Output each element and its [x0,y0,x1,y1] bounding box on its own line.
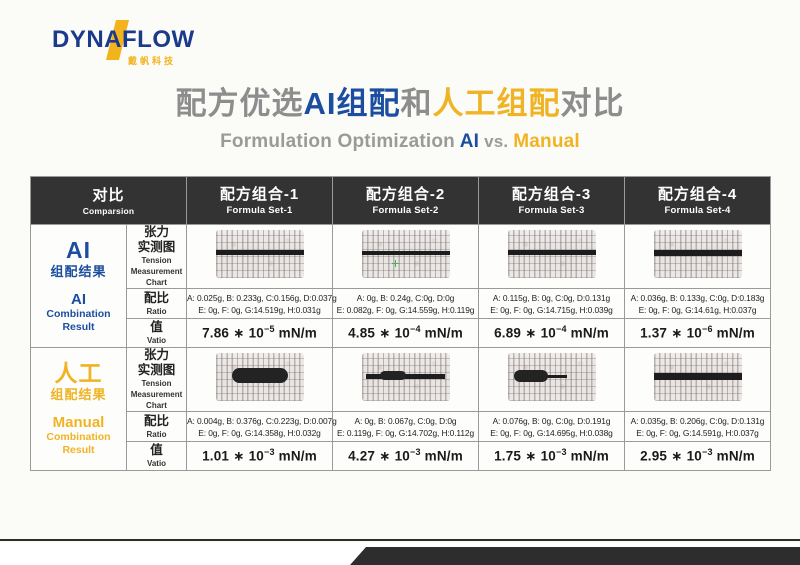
brand-logo: DYNAFLOW 戴帆科技 [52,27,202,65]
ratio-line-2: E: 0g, F: 0g, G:14.519g, H:0.031g [187,304,332,316]
row-label-ai: AI 组配结果 AI Combination Result [31,225,127,348]
page-title-cn: 配方优选AI组配和人工组配对比 [0,84,800,124]
value-mantissa: 6.89 [494,326,521,341]
value-exponent: −4 [556,324,567,334]
row-label-manual-en-3: Result [31,444,126,457]
ratio-line-1: A: 0.076g, B: 0g, C:0g, D:0.191g [479,415,624,427]
sublabel-ratio-cn: 配比 [127,414,186,429]
ratio-line-2: E: 0.119g, F: 0g, G:14.702g, H:0.112g [333,427,478,439]
ratio-manual-2: A: 0g, B: 0.067g, C:0g, D:0g E: 0.119g, … [333,412,479,442]
header-col-3-en: Formula Set-3 [479,205,624,216]
header-col-2-cn: 配方组合-2 [333,185,478,204]
sublabel-ratio-cn: 配比 [127,291,186,306]
sublabel-value-manual: 值 Vatio [127,442,187,471]
title-part-5: 对比 [561,86,625,121]
header-col-4-en: Formula Set-4 [625,205,770,216]
value-mantissa: 7.86 [202,326,229,341]
value-unit: mN/m [279,326,317,341]
row-label-ai-en-1: AI [31,291,126,308]
tension-micrograph [216,353,304,401]
value-exponent: −5 [264,324,275,334]
row-ai-ratio: 配比 Ratio A: 0.025g, B: 0.233g, C:0.156g,… [31,289,771,319]
sublabel-value-ai: 值 Vatio [127,319,187,348]
sublabel-tension-en-2: Measurement [127,267,186,277]
header-col-1-cn: 配方组合-1 [187,185,332,204]
ratio-line-1: A: 0.115g, B: 0g, C:0g, D:0.131g [479,292,624,304]
header-col-4-cn: 配方组合-4 [625,185,770,204]
title-part-3: 和 [401,86,433,121]
value-mantissa: 1.37 [640,326,667,341]
ratio-line-1: A: 0.035g, B: 0.206g, C:0g, D:0.131g [625,415,770,427]
value-base: 10 [541,449,556,464]
sublabel-ratio-en: Ratio [127,430,186,440]
tension-micrograph [508,230,596,278]
header-comparison-en: Comparsion [31,206,186,216]
logo-wordmark: DYNAFLOW [52,27,195,53]
value-exponent: −3 [410,447,421,457]
value-unit: mN/m [279,449,317,464]
value-base: 10 [249,449,264,464]
sublabel-tension-en-3: Chart [127,401,186,411]
header-col-1-en: Formula Set-1 [187,205,332,216]
sublabel-tension-cn-1: 张力 [127,348,186,363]
value-mantissa: 1.01 [202,449,229,464]
value-operator: ∗ [671,326,683,341]
value-manual-3: 1.75 ∗ 10−3 mN/m [479,442,625,471]
row-manual-chart: 人工 组配结果 Manual Combination Result 张力 实测图… [31,348,771,412]
footer-dark-shape [340,547,800,565]
value-exponent: −3 [264,447,275,457]
ratio-ai-4: A: 0.036g, B: 0.133g, C:0g, D:0.183g E: … [625,289,771,319]
title-part-4: 人工组配 [433,86,561,121]
header-col-2: 配方组合-2 Formula Set-2 [333,177,479,225]
table-header-row: 对比 Comparsion 配方组合-1 Formula Set-1 配方组合-… [31,177,771,225]
tension-image-ai-4 [625,225,771,289]
value-operator: ∗ [379,449,391,464]
value-ai-3: 6.89 ∗ 10−4 mN/m [479,319,625,348]
ratio-line-1: A: 0g, B: 0.067g, C:0g, D:0g [333,415,478,427]
tension-micrograph [654,230,742,278]
value-exponent: −3 [556,447,567,457]
value-operator: ∗ [525,449,537,464]
value-operator: ∗ [671,449,683,464]
row-manual-value: 值 Vatio 1.01 ∗ 10−3 mN/m 4.27 ∗ 10−3 mN/… [31,442,771,471]
crosshair-marker-icon [392,260,399,267]
ratio-ai-3: A: 0.115g, B: 0g, C:0g, D:0.131g E: 0g, … [479,289,625,319]
ratio-line-1: A: 0.025g, B: 0.233g, C:0.156g, D:0.037g [187,292,332,304]
sublabel-tension-en-2: Measurement [127,390,186,400]
tension-micrograph [216,230,304,278]
value-unit: mN/m [717,326,755,341]
ratio-line-2: E: 0.082g, F: 0g, G:14.559g, H:0.119g [333,304,478,316]
row-label-manual-cn-sub: 组配结果 [31,386,126,403]
ratio-line-2: E: 0g, F: 0g, G:14.591g, H:0.037g [625,427,770,439]
tension-image-manual-2 [333,348,479,412]
value-mantissa: 4.85 [348,326,375,341]
header-col-3: 配方组合-3 Formula Set-3 [479,177,625,225]
value-mantissa: 4.27 [348,449,375,464]
value-exponent: −6 [702,324,713,334]
sublabel-tension-en-3: Chart [127,278,186,288]
tension-micrograph [654,353,742,401]
sublabel-value-en: Vatio [127,459,186,469]
sublabel-value-cn: 值 [127,443,186,458]
ratio-line-2: E: 0g, F: 0g, G:14.358g, H:0.032g [187,427,332,439]
sublabel-tension-cn-2: 实测图 [127,363,186,378]
ratio-manual-4: A: 0.035g, B: 0.206g, C:0g, D:0.131g E: … [625,412,771,442]
ratio-manual-1: A: 0.004g, B: 0.376g, C:0.223g, D:0.007g… [187,412,333,442]
value-base: 10 [541,326,556,341]
row-ai-value: 值 Vatio 7.86 ∗ 10−5 mN/m 4.85 ∗ 10−4 mN/… [31,319,771,348]
sublabel-tension-cn-1: 张力 [127,225,186,240]
sublabel-ratio-manual: 配比 Ratio [127,412,187,442]
sublabel-ratio-en: Ratio [127,307,186,317]
ratio-manual-3: A: 0.076g, B: 0g, C:0g, D:0.191g E: 0g, … [479,412,625,442]
page-subtitle-en: Formulation Optimization AI vs. Manual [0,131,800,153]
value-manual-4: 2.95 ∗ 10−3 mN/m [625,442,771,471]
value-ai-2: 4.85 ∗ 10−4 mN/m [333,319,479,348]
row-label-ai-cn-big: AI [31,238,126,263]
header-col-3-cn: 配方组合-3 [479,185,624,204]
tension-image-ai-2 [333,225,479,289]
value-base: 10 [687,449,702,464]
sublabel-tension-en-1: Tension [127,256,186,266]
row-label-ai-cn-sub: 组配结果 [31,263,126,280]
value-unit: mN/m [571,326,609,341]
subtitle-vs: vs. [479,132,513,151]
subtitle-prefix: Formulation Optimization [220,131,460,152]
value-unit: mN/m [571,449,609,464]
sublabel-value-cn: 值 [127,320,186,335]
tension-image-manual-3 [479,348,625,412]
value-base: 10 [395,449,410,464]
value-mantissa: 1.75 [494,449,521,464]
ratio-line-1: A: 0.036g, B: 0.133g, C:0g, D:0.183g [625,292,770,304]
ratio-line-2: E: 0g, F: 0g, G:14.61g, H:0.037g [625,304,770,316]
value-ai-1: 7.86 ∗ 10−5 mN/m [187,319,333,348]
tension-micrograph [508,353,596,401]
value-unit: mN/m [425,326,463,341]
value-unit: mN/m [717,449,755,464]
logo-chinese-name: 戴帆科技 [128,54,176,67]
tension-image-ai-1 [187,225,333,289]
row-label-manual-en-2: Combination [31,431,126,444]
ratio-line-2: E: 0g, F: 0g, G:14.715g, H:0.039g [479,304,624,316]
ratio-line-2: E: 0g, F: 0g, G:14.695g, H:0.038g [479,427,624,439]
sublabel-tension-chart-ai: 张力 实测图 Tension Measurement Chart [127,225,187,289]
value-base: 10 [249,326,264,341]
value-exponent: −3 [702,447,713,457]
row-label-manual-cn-big: 人工 [31,361,126,386]
row-label-ai-en-3: Result [31,321,126,334]
value-operator: ∗ [379,326,391,341]
sublabel-value-en: Vatio [127,336,186,346]
row-ai-chart: AI 组配结果 AI Combination Result 张力 实测图 Ten… [31,225,771,289]
row-manual-ratio: 配比 Ratio A: 0.004g, B: 0.376g, C:0.223g,… [31,412,771,442]
tension-micrograph [362,353,450,401]
value-mantissa: 2.95 [640,449,667,464]
title-part-1: 配方优选 [176,86,304,121]
row-label-manual-en-1: Manual [31,414,126,431]
tension-micrograph [362,230,450,278]
sublabel-tension-en-1: Tension [127,379,186,389]
header-comparison: 对比 Comparsion [31,177,187,225]
value-base: 10 [687,326,702,341]
value-operator: ∗ [233,326,245,341]
header-col-4: 配方组合-4 Formula Set-4 [625,177,771,225]
value-manual-1: 1.01 ∗ 10−3 mN/m [187,442,333,471]
value-ai-4: 1.37 ∗ 10−6 mN/m [625,319,771,348]
sublabel-ratio-ai: 配比 Ratio [127,289,187,319]
comparison-table: 对比 Comparsion 配方组合-1 Formula Set-1 配方组合-… [30,176,771,471]
value-operator: ∗ [233,449,245,464]
ratio-line-1: A: 0.004g, B: 0.376g, C:0.223g, D:0.007g [187,415,332,427]
value-unit: mN/m [425,449,463,464]
value-operator: ∗ [525,326,537,341]
subtitle-ai: AI [460,131,479,152]
header-col-1: 配方组合-1 Formula Set-1 [187,177,333,225]
sublabel-tension-chart-manual: 张力 实测图 Tension Measurement Chart [127,348,187,412]
sublabel-tension-cn-2: 实测图 [127,240,186,255]
footer-decoration [0,543,800,565]
footer-rule [0,539,800,541]
tension-image-ai-3 [479,225,625,289]
row-label-ai-en-2: Combination [31,308,126,321]
tension-image-manual-4 [625,348,771,412]
value-base: 10 [395,326,410,341]
header-comparison-cn: 对比 [31,186,186,205]
value-manual-2: 4.27 ∗ 10−3 mN/m [333,442,479,471]
row-label-manual: 人工 组配结果 Manual Combination Result [31,348,127,471]
ratio-line-1: A: 0g, B: 0.24g, C:0g, D:0g [333,292,478,304]
header-col-2-en: Formula Set-2 [333,205,478,216]
page-title-block: 配方优选AI组配和人工组配对比 Formulation Optimization… [0,84,800,153]
value-exponent: −4 [410,324,421,334]
ratio-ai-2: A: 0g, B: 0.24g, C:0g, D:0g E: 0.082g, F… [333,289,479,319]
subtitle-manual: Manual [513,131,580,152]
title-part-2: AI组配 [304,86,401,121]
ratio-ai-1: A: 0.025g, B: 0.233g, C:0.156g, D:0.037g… [187,289,333,319]
tension-image-manual-1 [187,348,333,412]
